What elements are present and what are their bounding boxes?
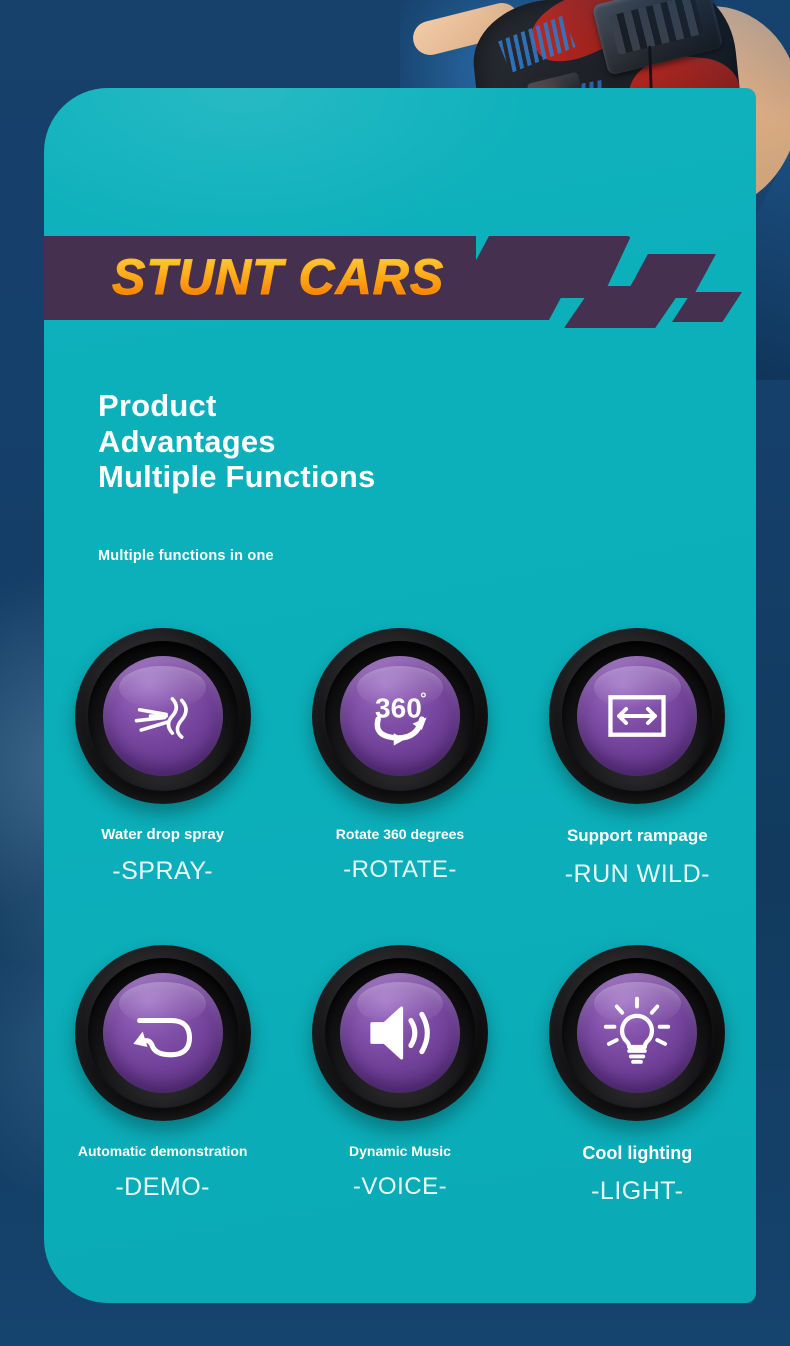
headline-block: Product Advantages Multiple Functions xyxy=(98,388,375,495)
headline-line-2: Advantages xyxy=(98,424,375,460)
feature-button-run-wild[interactable] xyxy=(549,628,725,804)
button-face xyxy=(103,973,223,1093)
svg-text:°: ° xyxy=(420,691,426,708)
feature-button-demo[interactable] xyxy=(75,945,251,1121)
button-face xyxy=(103,656,223,776)
u-turn-arrow-icon xyxy=(124,994,202,1072)
feature-tag: -ROTATE- xyxy=(343,856,457,884)
feature-button-spray[interactable] xyxy=(75,628,251,804)
feature-tag: -RUN WILD- xyxy=(565,860,710,889)
feature-item-rotate[interactable]: 360 ° Rotate 360 degrees -ROTATE- xyxy=(281,628,518,889)
feature-tag: -SPRAY- xyxy=(112,857,213,886)
speaker-icon xyxy=(361,994,439,1072)
button-face: 360 ° xyxy=(340,656,460,776)
horizontal-arrows-icon xyxy=(598,677,676,755)
feature-button-rotate[interactable]: 360 ° xyxy=(312,628,488,804)
feature-grid: Water drop spray -SPRAY- 360 ° Rotate xyxy=(44,628,756,1206)
feature-button-voice[interactable] xyxy=(312,945,488,1121)
feature-name: Cool lighting xyxy=(582,1143,692,1164)
button-face xyxy=(577,656,697,776)
feature-item-run-wild[interactable]: Support rampage -RUN WILD- xyxy=(519,628,756,889)
banner-title: STUNT CARS xyxy=(112,248,444,306)
subtitle: Multiple functions in one xyxy=(98,548,274,564)
title-banner: STUNT CARS xyxy=(44,236,756,320)
light-bulb-icon xyxy=(598,994,676,1072)
feature-tag: -VOICE- xyxy=(353,1173,447,1201)
feature-tag: -DEMO- xyxy=(115,1173,210,1202)
headline-line-3: Multiple Functions xyxy=(98,459,375,495)
feature-name: Rotate 360 degrees xyxy=(336,826,464,842)
headline-line-1: Product xyxy=(98,388,375,424)
feature-name: Water drop spray xyxy=(101,826,224,843)
feature-item-voice[interactable]: Dynamic Music -VOICE- xyxy=(281,945,518,1207)
feature-tag: -LIGHT- xyxy=(591,1177,683,1206)
product-feature-card: STUNT CARS Product Advantages Multiple F… xyxy=(44,88,756,1303)
button-face xyxy=(577,973,697,1093)
feature-name: Dynamic Music xyxy=(349,1143,451,1159)
button-face xyxy=(340,973,460,1093)
feature-button-light[interactable] xyxy=(549,945,725,1121)
rotate-360-icon: 360 ° xyxy=(361,677,439,755)
svg-text:360: 360 xyxy=(375,693,422,724)
feature-name: Support rampage xyxy=(567,826,708,846)
feature-name: Automatic demonstration xyxy=(78,1143,248,1159)
feature-item-spray[interactable]: Water drop spray -SPRAY- xyxy=(44,628,281,889)
feature-item-light[interactable]: Cool lighting -LIGHT- xyxy=(519,945,756,1207)
spray-icon xyxy=(124,677,202,755)
feature-item-demo[interactable]: Automatic demonstration -DEMO- xyxy=(44,945,281,1207)
checker-flag-shape-3 xyxy=(624,254,716,298)
